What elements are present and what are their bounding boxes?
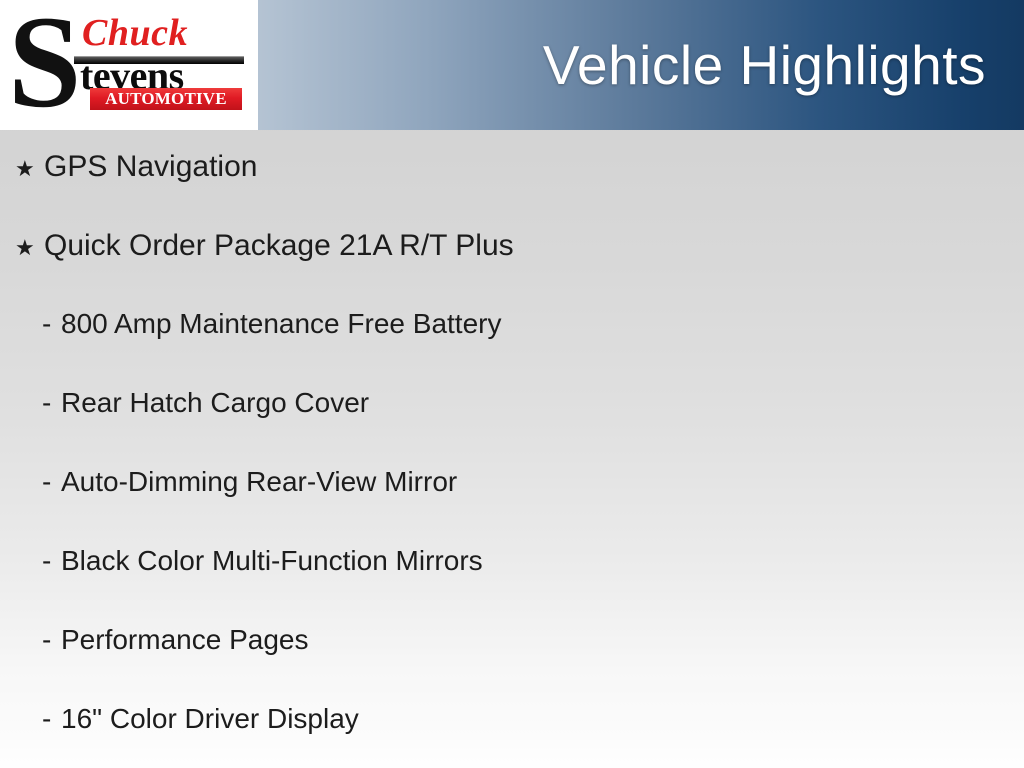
- page-title: Vehicle Highlights: [543, 33, 986, 97]
- logo-firstname-chuck: Chuck: [82, 14, 188, 52]
- star-bullet-icon: ★: [15, 237, 44, 259]
- dash-bullet-icon: -: [42, 389, 61, 417]
- sub-feature-label: 800 Amp Maintenance Free Battery: [61, 310, 501, 338]
- list-item: ★ GPS Navigation: [0, 152, 1024, 231]
- logo-tagline-text: AUTOMOTIVE: [90, 88, 242, 110]
- sub-feature-label: Performance Pages: [61, 626, 308, 654]
- dash-bullet-icon: -: [42, 626, 61, 654]
- list-item: ★ Quick Order Package 21A R/T Plus: [0, 231, 1024, 310]
- list-item: - Auto-Dimming Rear-View Mirror: [0, 468, 1024, 547]
- brand-logo[interactable]: S Chuck tevens AUTOMOTIVE: [0, 0, 258, 129]
- highlights-list: ★ GPS Navigation ★ Quick Order Package 2…: [0, 130, 1024, 768]
- sub-feature-label: 16" Color Driver Display: [61, 705, 359, 733]
- list-item: - Black Color Multi-Function Mirrors: [0, 547, 1024, 626]
- list-item: - 16" Color Driver Display: [0, 705, 1024, 768]
- sub-feature-label: Rear Hatch Cargo Cover: [61, 389, 369, 417]
- feature-label: Quick Order Package 21A R/T Plus: [44, 231, 514, 261]
- sub-feature-label: Black Color Multi-Function Mirrors: [61, 547, 483, 575]
- dash-bullet-icon: -: [42, 547, 61, 575]
- list-item: - 800 Amp Maintenance Free Battery: [0, 310, 1024, 389]
- logo-artwork: S Chuck tevens AUTOMOTIVE: [0, 0, 258, 129]
- dash-bullet-icon: -: [42, 310, 61, 338]
- logo-monogram-s: S: [8, 0, 81, 128]
- dash-bullet-icon: -: [42, 468, 61, 496]
- star-bullet-icon: ★: [15, 158, 44, 180]
- logo-tagline-bar: AUTOMOTIVE: [90, 88, 242, 110]
- page-header: Vehicle Highlights S Chuck tevens AUTOMO…: [0, 0, 1024, 130]
- feature-label: GPS Navigation: [44, 152, 257, 182]
- list-item: - Rear Hatch Cargo Cover: [0, 389, 1024, 468]
- sub-feature-label: Auto-Dimming Rear-View Mirror: [61, 468, 457, 496]
- list-item: - Performance Pages: [0, 626, 1024, 705]
- dash-bullet-icon: -: [42, 705, 61, 733]
